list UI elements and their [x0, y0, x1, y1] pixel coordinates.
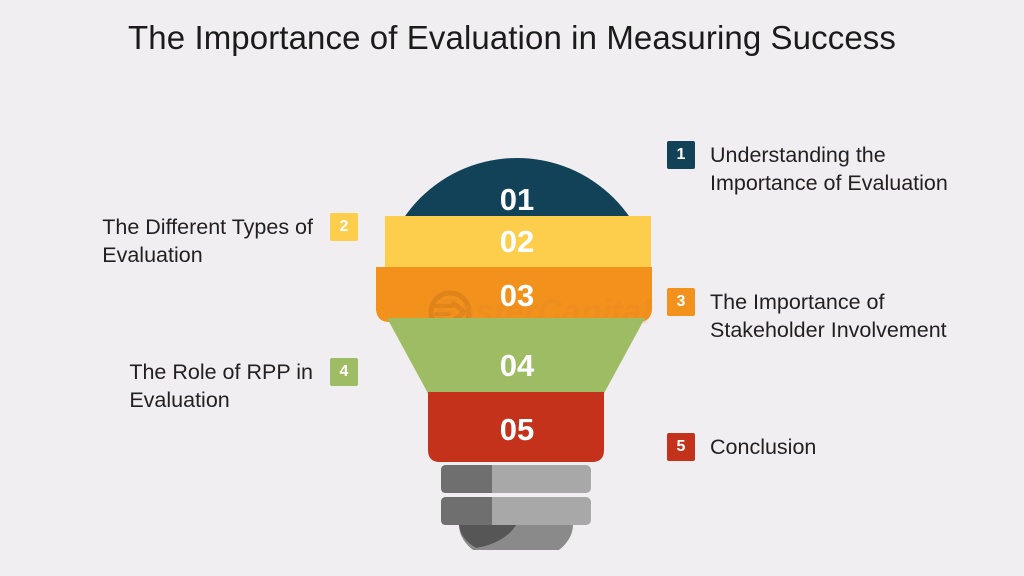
list-item-4[interactable]: The Role of RPP in Evaluation 4 — [18, 358, 358, 414]
status-badge-5[interactable]: 5 — [667, 433, 695, 461]
list-item-4-label: The Role of RPP in Evaluation — [129, 358, 313, 414]
bulb-label-02: 02 — [500, 224, 534, 259]
bulb-label-05: 05 — [500, 412, 534, 447]
list-item-4-line2: Evaluation — [129, 386, 313, 414]
list-item-1-label: Understanding the Importance of Evaluati… — [710, 141, 948, 197]
list-item-1-line2: Importance of Evaluation — [710, 169, 948, 197]
list-item-3-line2: Stakeholder Involvement — [710, 316, 947, 344]
list-item-5-line1: Conclusion — [710, 433, 816, 461]
status-badge-3[interactable]: 3 — [667, 288, 695, 316]
status-badge-2[interactable]: 2 — [330, 213, 358, 241]
list-item-3-line1: The Importance of — [710, 288, 947, 316]
page-title: The Importance of Evaluation in Measurin… — [0, 18, 1024, 58]
bulb-screw-base — [441, 465, 591, 525]
list-item-3-label: The Importance of Stakeholder Involvemen… — [710, 288, 947, 344]
list-item-2-line1: The Different Types of — [102, 213, 313, 241]
lightbulb-infographic: FasterCapital 01 02 03 04 — [340, 120, 690, 550]
bulb-label-03: 03 — [500, 278, 534, 313]
list-item-5[interactable]: 5 Conclusion — [667, 433, 1017, 461]
list-item-1-line1: Understanding the — [710, 141, 948, 169]
list-item-5-label: Conclusion — [710, 433, 816, 461]
bulb-label-01: 01 — [500, 182, 534, 217]
list-item-2[interactable]: The Different Types of Evaluation 2 — [18, 213, 358, 269]
list-item-2-label: The Different Types of Evaluation — [102, 213, 313, 269]
status-badge-4[interactable]: 4 — [330, 358, 358, 386]
list-item-3[interactable]: 3 The Importance of Stakeholder Involvem… — [667, 288, 1017, 344]
slide-canvas: The Importance of Evaluation in Measurin… — [0, 0, 1024, 576]
list-item-1[interactable]: 1 Understanding the Importance of Evalua… — [667, 141, 1017, 197]
bulb-contact-tip — [459, 525, 573, 550]
list-item-4-line1: The Role of RPP in — [129, 358, 313, 386]
list-item-2-line2: Evaluation — [102, 241, 313, 269]
status-badge-1[interactable]: 1 — [667, 141, 695, 169]
bulb-label-04: 04 — [500, 348, 535, 383]
